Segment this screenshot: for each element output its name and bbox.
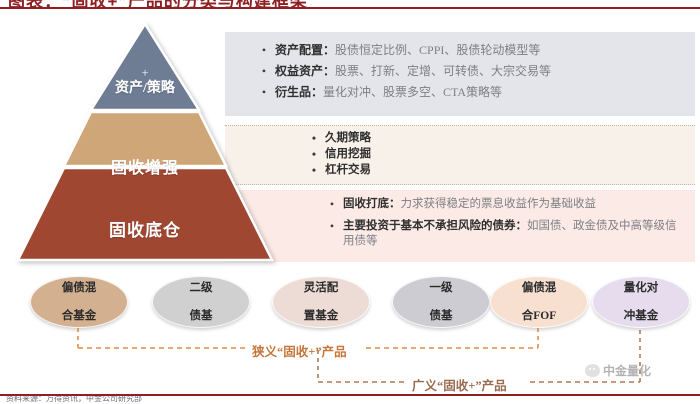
footer-source-strip: 资料来源：万得资讯，中金公司研究部 bbox=[0, 396, 700, 404]
bracket-connectors bbox=[0, 0, 700, 404]
bracket-label-broad: 广义“固收+”产品 bbox=[412, 375, 507, 394]
watermark: 中金量化 bbox=[585, 362, 651, 379]
watermark-text: 中金量化 bbox=[603, 362, 651, 379]
slide-canvas: 图表：“固收+”产品的分类与构建框架 • 资产配置：股债恒定比例、CPPI、股债… bbox=[0, 0, 700, 404]
bracket-label-narrow: 狭义“固收+”产品 bbox=[252, 341, 347, 360]
source-note: 资料来源：万得资讯，中金公司研究部 bbox=[6, 396, 142, 404]
wechat-icon bbox=[585, 364, 600, 377]
